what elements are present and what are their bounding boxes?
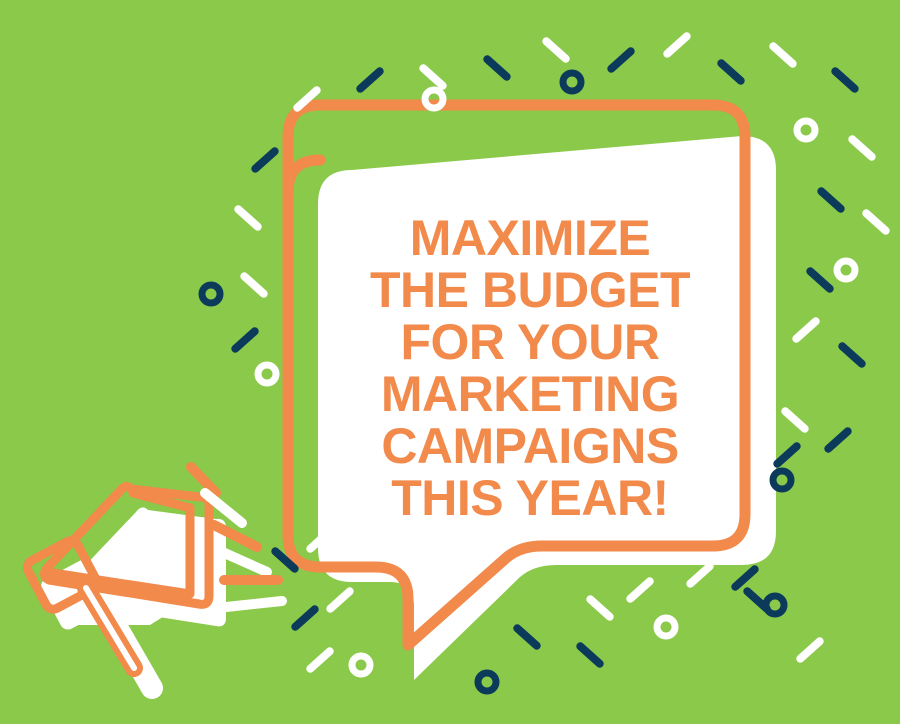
sound-wave-ray (226, 601, 282, 607)
headline-text: MAXIMIZE THE BUDGET FOR YOUR MARKETING C… (330, 212, 730, 524)
poster-canvas: MAXIMIZE THE BUDGET FOR YOUR MARKETING C… (0, 0, 900, 724)
